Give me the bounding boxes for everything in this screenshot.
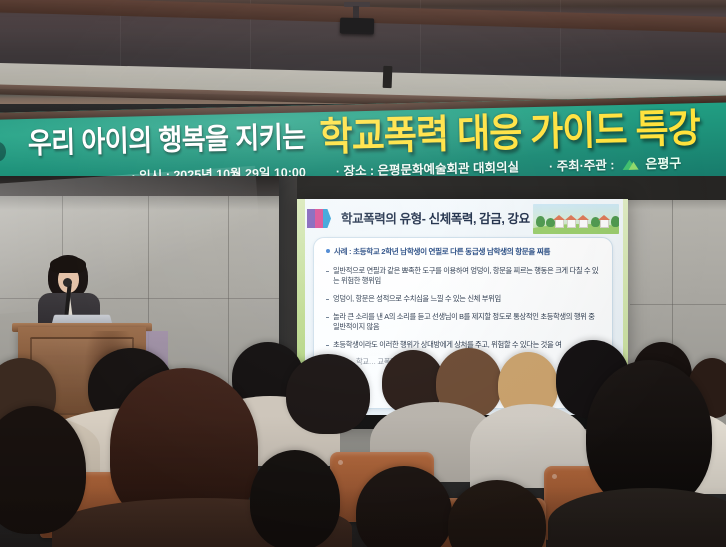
bullet-dot-icon <box>326 249 330 253</box>
slide-bullet: 엉덩이, 항문은 성적으로 수치심을 느낄 수 있는 신체 부위임 <box>326 294 602 305</box>
audience-head <box>286 354 370 434</box>
dash-bullet-icon <box>326 299 329 300</box>
slide-case-line: 사례 : 초등학교 2학년 남학생이 연필로 다른 동급생 남학생의 항문을 찌… <box>326 247 602 257</box>
audience-head-foreground <box>448 480 546 547</box>
slide-title: 학교폭력의 유형- 신체폭력, 감금, 강요 <box>341 208 530 227</box>
audience-head-foreground <box>250 450 340 547</box>
village-illustration-icon <box>533 204 619 234</box>
slide-header: 학교폭력의 유형- 신체폭력, 감금, 강요 <box>305 203 623 234</box>
screen-top-housing <box>279 176 726 200</box>
ceiling-speaker-icon <box>383 66 393 88</box>
presenter-fringe <box>50 257 86 273</box>
slide-case-text: 사례 : 초등학교 2학년 남학생이 연필로 다른 동급생 남학생의 항문을 찌… <box>334 247 550 257</box>
dash-bullet-icon <box>326 317 329 318</box>
slide-bullet-text: 일반적으로 연필과 같은 뾰족한 도구를 이용하여 엉덩이, 항문을 찌르는 행… <box>333 266 602 287</box>
dash-bullet-icon <box>326 271 329 272</box>
ceiling-projector-icon <box>340 18 374 35</box>
banner-host-org: 은평구 <box>645 155 681 171</box>
banner-host-label: · 주최·주관 : <box>549 158 615 174</box>
lecture-hall-photo: 우리 아이의 행복을 지키는 학교폭력 대응 가이드 특강 · 일시 : 202… <box>0 0 726 547</box>
eunpyeong-gu-mountain-logo-icon <box>622 158 639 170</box>
arrow-flag-icon <box>307 209 337 228</box>
microphone-head-icon <box>63 278 72 287</box>
banner-headline-white: 우리 아이의 행복을 지키는 <box>27 114 306 162</box>
ceiling <box>0 0 726 104</box>
slide-bullet: 일반적으로 연필과 같은 뾰족한 도구를 이용하여 엉덩이, 항문을 찌르는 행… <box>326 266 602 287</box>
audience <box>0 330 726 547</box>
slide-bullet-text: 엉덩이, 항문은 성적으로 수치심을 느낄 수 있는 신체 부위임 <box>333 294 602 305</box>
banner-host: · 주최·주관 : 은평구 <box>549 152 682 174</box>
